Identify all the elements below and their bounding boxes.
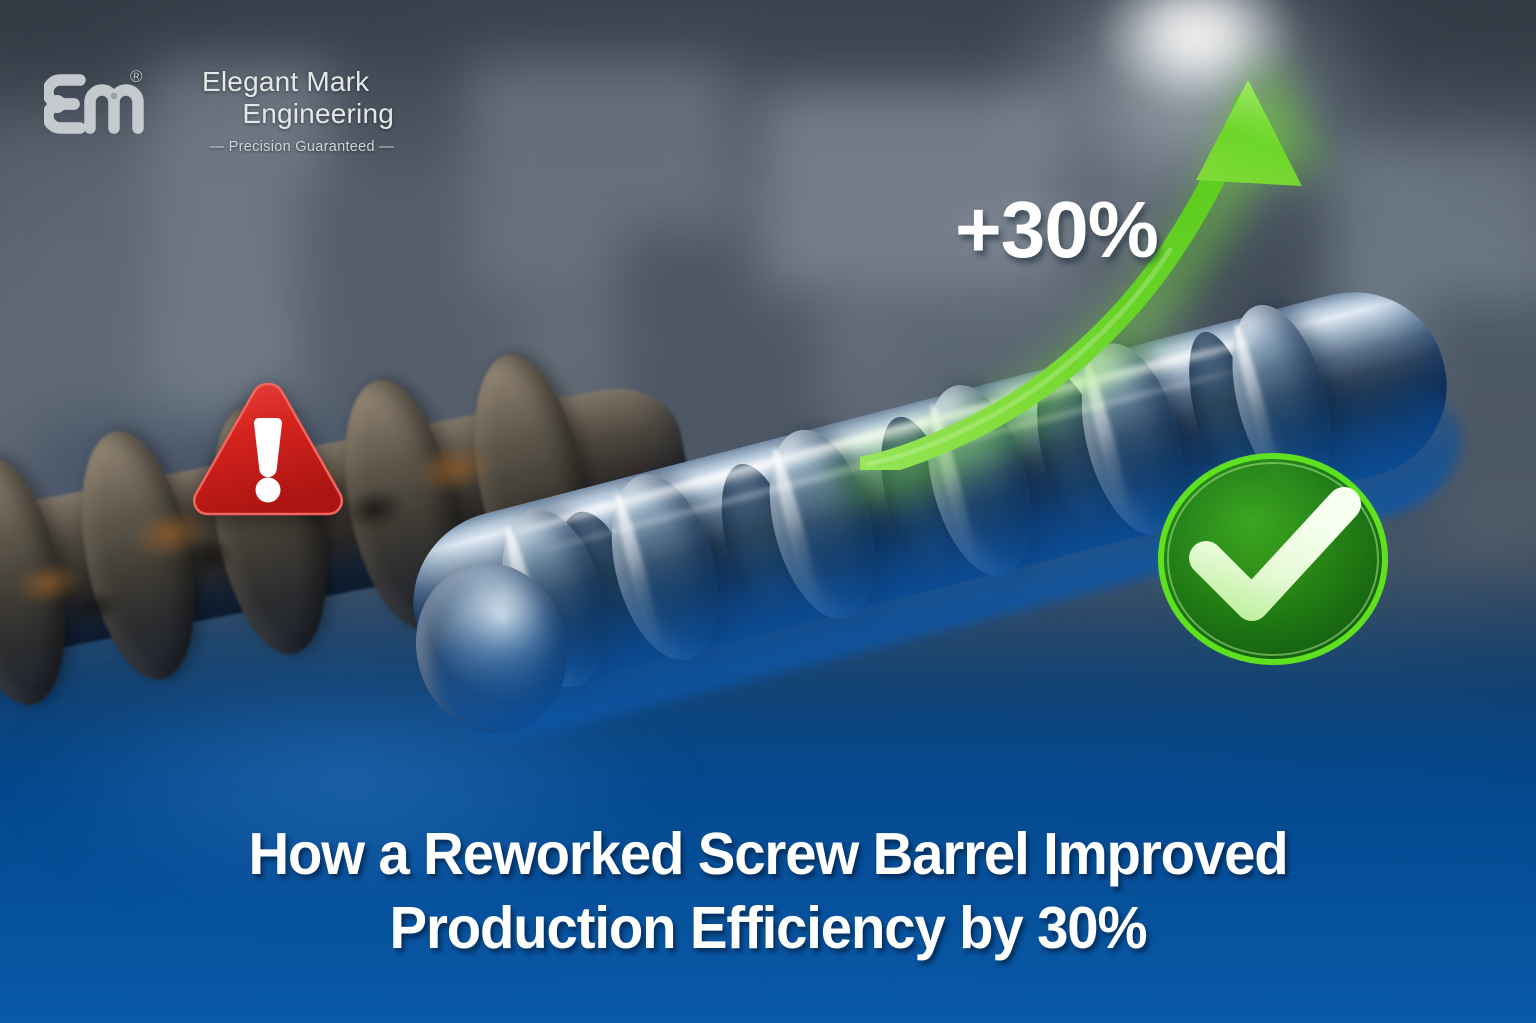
percent-increase-badge: +30% <box>955 190 1158 270</box>
headline: How a Reworked Screw Barrel Improved Pro… <box>35 818 1502 966</box>
warning-triangle-icon <box>188 378 348 520</box>
headline-line1: How a Reworked Screw Barrel Improved <box>35 818 1502 892</box>
registered-trademark-icon: ® <box>130 68 143 85</box>
brand-tagline: — Precision Guaranteed — <box>156 139 394 155</box>
em-monogram-icon <box>44 70 144 148</box>
marketing-banner: +30% <box>0 0 1536 1023</box>
quality-check-badge <box>1148 448 1398 670</box>
brand-name: Elegant Mark Engineering — Precision Gua… <box>156 66 394 155</box>
brand-name-line1: Elegant Mark <box>202 66 394 98</box>
brand-logo[interactable]: ® Elegant Mark Engineering — Precision G… <box>44 66 394 176</box>
headline-line2: Production Efficiency by 30% <box>35 892 1502 966</box>
brand-name-line2: Engineering <box>156 98 394 130</box>
